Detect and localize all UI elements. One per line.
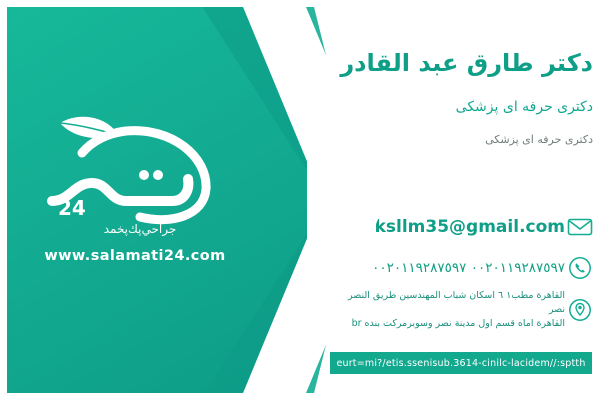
footer-url-text[interactable]: eurt=mi?/etis.ssenisub.3614-cinilc-lacid…: [336, 358, 585, 369]
contact-row-phone[interactable]: ٠٠٢٠١١٩٢٨٧٥٩٧ ٠٠٢٠١١٩٢٨٧٥٩٧: [372, 253, 595, 283]
map-pin-icon: [565, 295, 595, 325]
logo: 24: [22, 105, 242, 225]
doctor-name: دكتر طارق عبد القادر: [340, 49, 593, 77]
phone-text[interactable]: ٠٠٢٠١١٩٢٨٧٥٩٧ ٠٠٢٠١١٩٢٨٧٥٩٧: [372, 260, 565, 276]
doctor-specialty-sub: دکتری حرفه ای پزشکی: [485, 133, 593, 146]
contact-row-email[interactable]: trksllm35@gmail.com: [358, 212, 595, 242]
svg-text:24: 24: [58, 196, 86, 220]
envelope-icon: [565, 212, 595, 242]
address-line-1: القاهرة مطب١ ٦ اسكان شباب المهندسين طريق…: [324, 290, 565, 315]
business-card: 24 جراحي‌پك‌پخمد www.salamati24.com دكتر…: [0, 0, 616, 400]
phone-icon: [565, 253, 595, 283]
logo-tagline: جراحي‌پك‌پخمد: [40, 222, 240, 236]
logo-mark-icon: 24: [22, 105, 242, 225]
address-line-2: القاهرة اماه قسم اول مدينة نصر وسوبرمركت…: [352, 318, 565, 329]
footer-url-bar[interactable]: eurt=mi?/etis.ssenisub.3614-cinilc-lacid…: [330, 352, 592, 374]
email-text[interactable]: trksllm35@gmail.com: [358, 217, 565, 237]
address-text: القاهرة مطب١ ٦ اسكان شباب المهندسين طريق…: [310, 289, 565, 330]
doctor-specialty: دكترى حرفه اى پزشكى: [456, 99, 593, 115]
logo-website[interactable]: www.salamati24.com: [20, 248, 250, 264]
contact-row-address: القاهرة مطب١ ٦ اسكان شباب المهندسين طريق…: [310, 289, 595, 330]
